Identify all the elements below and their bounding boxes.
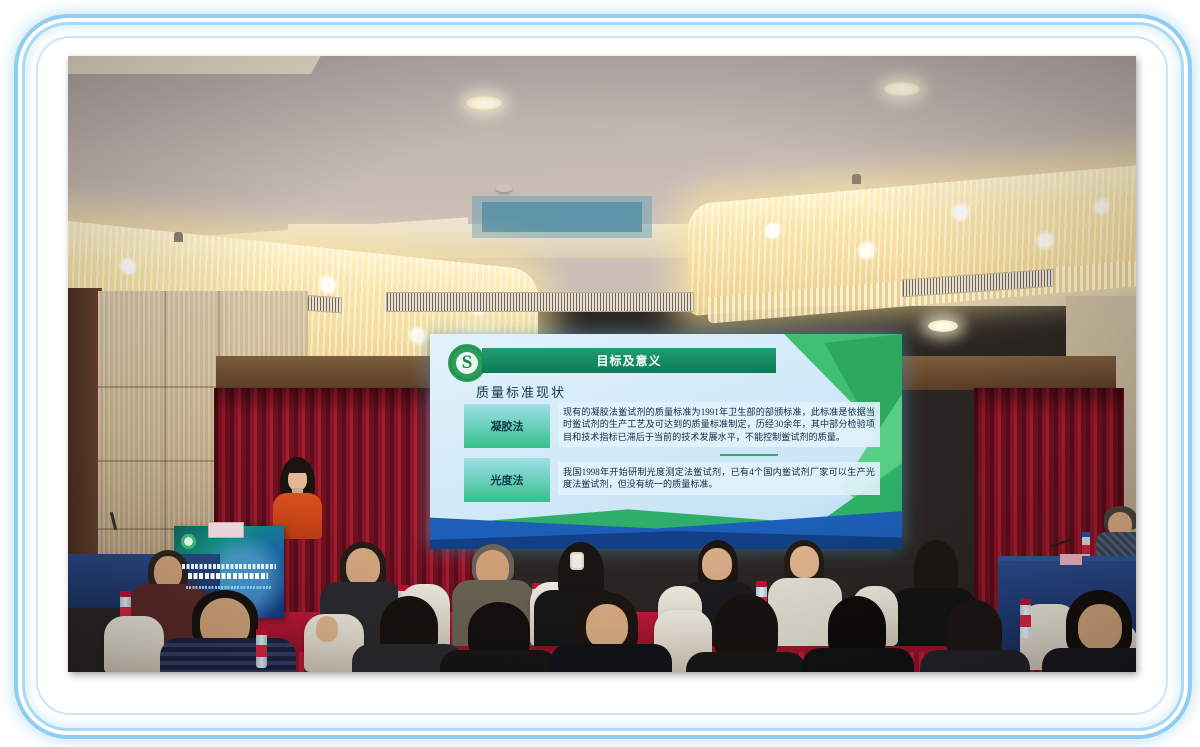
bottle-cap — [1020, 599, 1031, 605]
chandelier-hanger-left — [174, 232, 183, 242]
audience-body-11 — [440, 650, 558, 672]
audience-hair-13 — [714, 594, 778, 660]
audience-chair-front-1 — [104, 616, 164, 672]
audience-body-13 — [686, 652, 806, 672]
bottle-cap — [120, 591, 131, 597]
smoke-detector-icon — [496, 184, 512, 192]
wall-left-dark-trim — [68, 288, 102, 568]
ceiling-downlight-5 — [928, 320, 958, 332]
audience-body-8 — [160, 638, 296, 672]
slide-paragraph-divider — [720, 454, 778, 456]
audience-head-12 — [586, 604, 628, 648]
audience-head-10 — [316, 616, 338, 642]
ceiling-downlight-1 — [466, 96, 502, 110]
projection-screen: S 目标及意义 质量标准现状 凝胶法 光度法 现有的凝胶法鲎试剂的质量标准为19… — [430, 334, 902, 549]
audience-body-12 — [550, 644, 672, 672]
ceiling-recess-center-inner — [482, 202, 642, 232]
slide-logo-icon: S — [448, 344, 486, 382]
podium-banner-text-line-1 — [182, 564, 276, 569]
bottle-cap — [256, 629, 267, 635]
audience-head-6 — [790, 546, 819, 578]
audience-body-15 — [920, 650, 1030, 672]
wall-panel-vline-1 — [164, 291, 166, 561]
audience-head-16 — [1078, 604, 1122, 650]
podium-banner-text-line-3 — [186, 586, 272, 589]
slide-paragraph-2: 我国1998年开始研制光度测定法鲎试剂，已有4个国内鲎试剂厂家可以生产光度法鲎试… — [558, 462, 880, 495]
bottle-label — [1020, 615, 1031, 627]
head-table-bottle-label — [1082, 545, 1090, 554]
slide-paragraph-1: 现有的凝胶法鲎试剂的质量标准为1991年卫生部的部颁标准，此标准是依据当时鲎试剂… — [558, 402, 880, 447]
podium-name-card — [208, 522, 244, 538]
slide-tag-label-2: 光度法 — [491, 472, 524, 488]
slide-subtitle: 质量标准现状 — [476, 382, 566, 401]
bottle-label — [256, 645, 267, 657]
slide-tag-photometric-method: 光度法 — [464, 458, 550, 502]
audience-hairclip-icon — [570, 552, 584, 570]
ceiling-soffit-left — [68, 56, 325, 74]
audience-body-16 — [1042, 648, 1136, 672]
audience-head-5 — [702, 548, 732, 580]
podium-logo-icon — [181, 534, 196, 549]
speaker-fringe — [284, 460, 311, 473]
bottle-cap — [756, 581, 767, 587]
conference-photo: S 目标及意义 质量标准现状 凝胶法 光度法 现有的凝胶法鲎试剂的质量标准为19… — [68, 56, 1136, 672]
audience-head-2 — [346, 548, 380, 586]
slide-tag-label-1: 凝胶法 — [491, 418, 524, 434]
audience-bottle-5 — [256, 634, 267, 668]
slide-logo-glyph: S — [462, 352, 473, 374]
chandelier-hanger-right — [852, 174, 861, 184]
slide-tag-gel-method: 凝胶法 — [464, 404, 550, 448]
audience-bottle-6 — [1020, 604, 1031, 638]
head-table-bottle-cap — [1082, 532, 1090, 537]
air-vent-right — [386, 292, 694, 312]
slide-title-bar: 目标及意义 — [482, 348, 776, 373]
podium-banner-text-line-2 — [188, 573, 268, 579]
ceiling-downlight-2 — [884, 82, 920, 96]
head-table-notepad — [1060, 554, 1082, 565]
audience-body-14 — [802, 648, 914, 672]
slide-title: 目标及意义 — [596, 352, 661, 369]
